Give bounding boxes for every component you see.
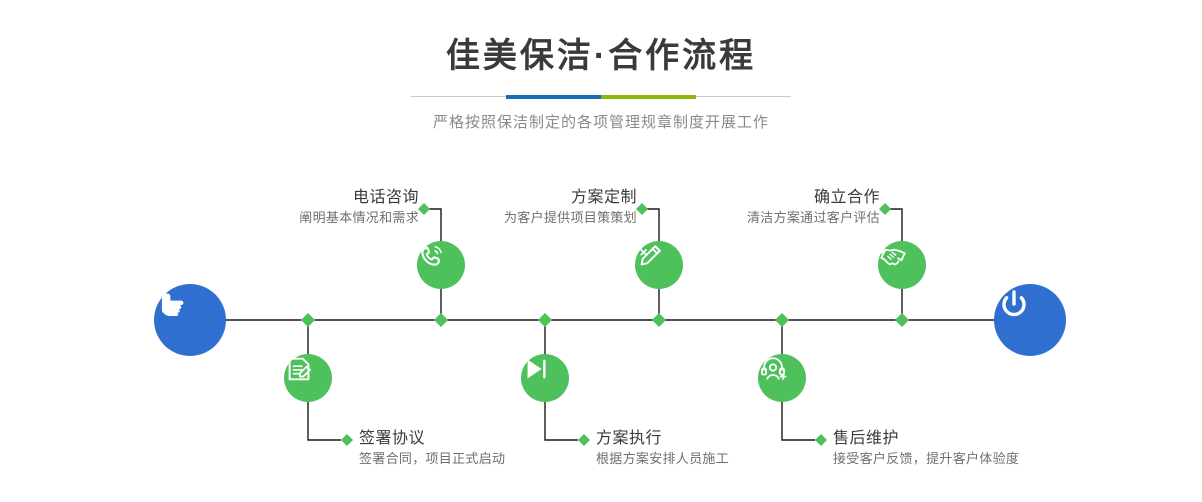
flow-node-step-1[interactable] <box>417 241 465 289</box>
customer-service-icon <box>758 354 788 384</box>
flow-node-step-3[interactable] <box>635 241 683 289</box>
flow-label-step-2-title: 签署协议 <box>359 429 505 449</box>
flow-node-step-2[interactable] <box>284 354 332 402</box>
flow-label-step-6-title: 售后维护 <box>833 429 1019 449</box>
flow-label-step-4-title: 方案执行 <box>596 429 729 449</box>
power-icon <box>994 284 1034 324</box>
flow-label-step-3: 方案定制 为客户提供项目策策划 <box>504 188 637 228</box>
axis-diamond-6 <box>895 313 909 327</box>
flow-label-step-1-title: 电话咨询 <box>299 188 419 208</box>
flow-label-step-2: 签署协议 签署合同，项目正式启动 <box>359 429 505 469</box>
label-diamond-step-4 <box>578 434 590 446</box>
play-execute-icon <box>521 354 551 384</box>
pencil-plan-icon <box>635 241 665 271</box>
flow-label-step-4-desc: 根据方案安排人员施工 <box>596 449 729 469</box>
flow-label-step-5-title: 确立合作 <box>747 188 880 208</box>
axis-diamond-1 <box>301 313 315 327</box>
axis-diamond-2 <box>434 313 448 327</box>
flow-label-step-6-desc: 接受客户反馈，提升客户体验度 <box>833 449 1019 469</box>
phone-call-icon <box>417 241 447 271</box>
axis-diamond-5 <box>775 313 789 327</box>
label-diamond-markers <box>341 203 891 446</box>
label-diamond-step-5 <box>879 203 891 215</box>
flow-label-step-4: 方案执行 根据方案安排人员施工 <box>596 429 729 469</box>
flow-label-step-2-desc: 签署合同，项目正式启动 <box>359 449 505 469</box>
flow-node-step-6[interactable] <box>758 354 806 402</box>
document-edit-icon <box>284 354 314 384</box>
flow-label-step-6: 售后维护 接受客户反馈，提升客户体验度 <box>833 429 1019 469</box>
flow-label-step-1: 电话咨询 阐明基本情况和需求 <box>299 188 419 228</box>
flow-label-step-1-desc: 阐明基本情况和需求 <box>299 208 419 228</box>
process-flow-diagram: 电话咨询 阐明基本情况和需求 方案定制 为客户提供项目策策划 确立合作 <box>0 0 1202 502</box>
flow-node-step-4[interactable] <box>521 354 569 402</box>
pointing-hand-icon <box>154 284 194 324</box>
label-diamond-step-2 <box>341 434 353 446</box>
flow-label-step-5-desc: 清洁方案通过客户评估 <box>747 208 880 228</box>
flow-label-step-3-desc: 为客户提供项目策策划 <box>504 208 637 228</box>
flow-node-step-5[interactable] <box>878 241 926 289</box>
label-diamond-step-6 <box>815 434 827 446</box>
axis-diamond-3 <box>538 313 552 327</box>
handshake-icon <box>878 241 908 271</box>
flow-label-step-5: 确立合作 清洁方案通过客户评估 <box>747 188 880 228</box>
flow-connectors <box>0 0 1202 502</box>
axis-diamond-4 <box>652 313 666 327</box>
flow-start-node[interactable] <box>154 284 226 356</box>
label-diamond-step-1 <box>418 203 430 215</box>
flow-end-node[interactable] <box>994 284 1066 356</box>
flow-infographic-page: 佳美保洁·合作流程 严格按照保洁制定的各项管理规章制度开展工作 <box>0 0 1202 502</box>
label-diamond-step-3 <box>636 203 648 215</box>
flow-label-step-3-title: 方案定制 <box>504 188 637 208</box>
